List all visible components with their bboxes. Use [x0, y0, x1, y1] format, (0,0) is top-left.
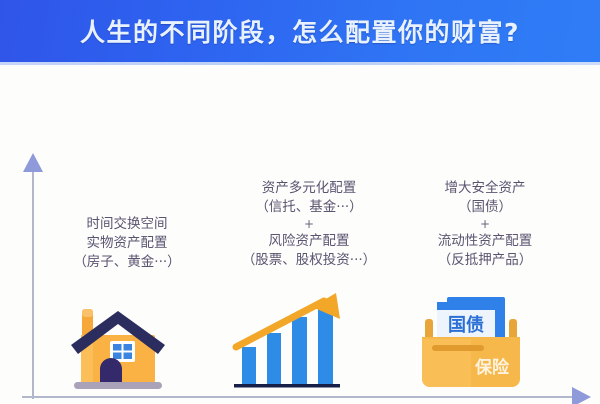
caption-line: （信托、基金···）: [214, 198, 404, 217]
age-axis-arrow-icon: [572, 387, 591, 404]
caption-line: （国债）: [395, 198, 575, 217]
caption-line: （反抵押产品）: [395, 251, 575, 270]
caption-line: 流动性资产配置: [395, 232, 575, 251]
wallet-icon: 国债 保险: [408, 293, 534, 395]
age-axis-line: [22, 396, 573, 398]
caption-plus-sign: +: [395, 217, 575, 232]
bar-2: [267, 333, 281, 385]
caption-plus-sign: +: [214, 217, 404, 232]
caption-prime: 资产多元化配置 （信托、基金···） + 风险资产配置 （股票、股权投资···）: [214, 179, 404, 270]
caption-line: （房子、黄金···）: [42, 253, 212, 272]
caption-line: 资产多元化配置: [214, 179, 404, 198]
house-icon: [62, 297, 174, 395]
infographic-canvas: 人生的不同阶段，怎么配置你的财富? 时间交换空间 实物资产配置 （房子、黄金··…: [0, 0, 600, 404]
caption-elder: 增大安全资产 （国债） + 流动性资产配置 （反抵押产品）: [395, 179, 575, 270]
caption-line: 风险资产配置: [214, 232, 404, 251]
caption-line: 增大安全资产: [395, 179, 575, 198]
insurance-label: 保险: [474, 357, 510, 378]
bar-1: [242, 347, 256, 385]
caption-line: 时间交换空间: [42, 215, 212, 234]
wealth-axis-line: [32, 169, 34, 399]
page-title: 人生的不同阶段，怎么配置你的财富?: [0, 0, 600, 62]
wealth-axis-arrow-icon: [23, 153, 43, 172]
bar-3: [292, 317, 307, 385]
growth-bar-chart-icon: [228, 293, 348, 395]
chart-area: 时间交换空间 实物资产配置 （房子、黄金···） 资产多元化配置 （信托、基金·…: [0, 65, 600, 404]
caption-line: （股票、股权投资···）: [214, 251, 404, 270]
caption-youth: 时间交换空间 实物资产配置 （房子、黄金···）: [42, 215, 212, 272]
bond-card-label: 国债: [448, 314, 484, 336]
header-banner: 人生的不同阶段，怎么配置你的财富?: [0, 0, 600, 62]
caption-line: 实物资产配置: [42, 234, 212, 253]
